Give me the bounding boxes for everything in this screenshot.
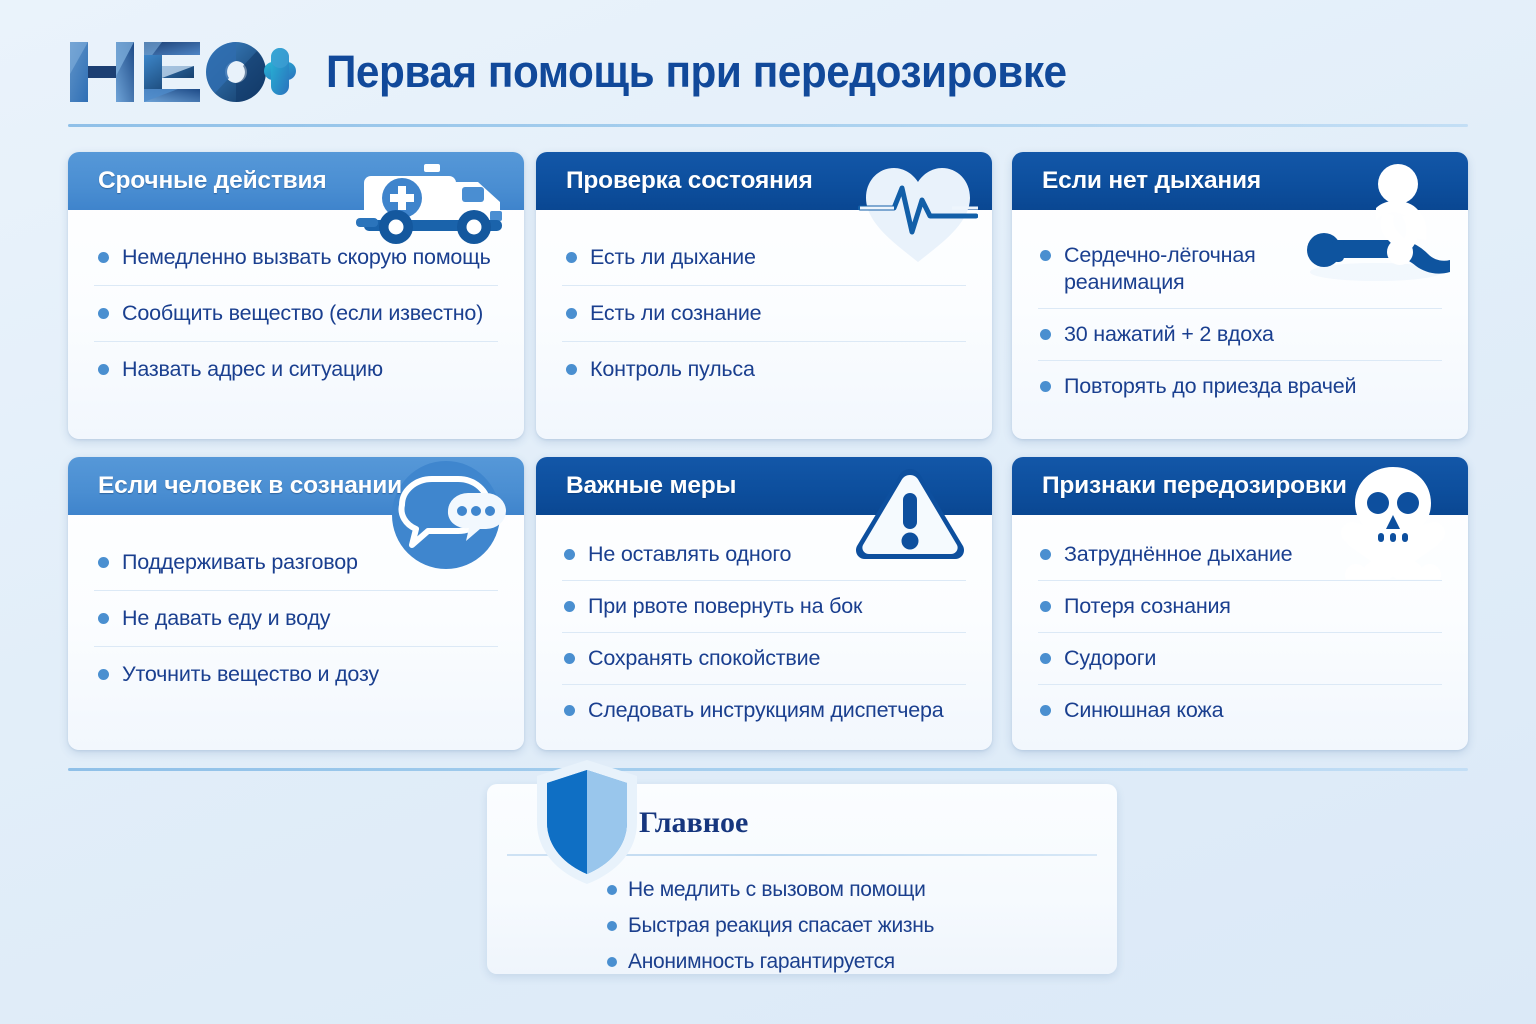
neo-plus-logo <box>68 36 296 108</box>
item-list: Есть ли дыхание Есть ли сознание Контрол… <box>562 230 966 397</box>
bullet-dot <box>564 705 575 716</box>
summary-item-list: Не медлить с вызовом помощи Быстрая реак… <box>607 872 934 980</box>
list-item[interactable]: Контроль пульса <box>562 342 966 397</box>
list-item[interactable]: Сердечно-лёгочная реанимация <box>1038 230 1442 309</box>
card-title: Важные меры <box>536 472 736 500</box>
bullet-dot <box>564 653 575 664</box>
card-header: Важные меры <box>536 457 992 515</box>
list-item[interactable]: Не давать еду и воду <box>94 591 498 647</box>
page-title: Первая помощь при передозировке <box>326 46 1067 98</box>
card-header: Проверка состояния <box>536 152 992 210</box>
bullet-dot <box>1040 601 1051 612</box>
list-item[interactable]: Повторять до приезда врачей <box>1038 361 1442 412</box>
card-title: Если человек в сознании <box>68 472 402 500</box>
item-list: Затруднённое дыхание Потеря сознания Суд… <box>1038 529 1442 736</box>
card-title: Проверка состояния <box>536 167 813 195</box>
bullet-dot <box>607 957 617 967</box>
list-item[interactable]: Назвать адрес и ситуацию <box>94 342 498 397</box>
card-conscious-person: Если человек в сознании Поддерживать раз… <box>68 457 524 750</box>
card-overdose-signs: Признаки передозировки Затруднён <box>1012 457 1468 750</box>
list-item[interactable]: Немедленно вызвать скорую помощь <box>94 230 498 286</box>
list-item[interactable]: Не медлить с вызовом помощи <box>607 872 934 908</box>
card-condition-check: Проверка состояния Есть ли дыхание Есть … <box>536 152 992 439</box>
card-header: Если нет дыхания <box>1012 152 1468 210</box>
card-urgent-actions: Срочные действия Немедленно вызвать <box>68 152 524 439</box>
card-title: Если нет дыхания <box>1012 167 1261 195</box>
summary-divider <box>68 768 1468 771</box>
bullet-dot <box>1040 250 1051 261</box>
bullet-dot <box>1040 329 1051 340</box>
card-body: Сердечно-лёгочная реанимация 30 нажатий … <box>1012 210 1468 438</box>
bullet-dot <box>1040 705 1051 716</box>
item-list: Поддерживать разговор Не давать еду и во… <box>94 535 498 702</box>
bullet-dot <box>607 885 617 895</box>
shield-icon <box>533 758 641 886</box>
list-item[interactable]: Анонимность гарантируется <box>607 944 934 980</box>
page-header: Первая помощь при передозировке <box>68 26 1468 118</box>
list-item[interactable]: Потеря сознания <box>1038 581 1442 633</box>
card-title: Признаки передозировки <box>1012 472 1347 500</box>
item-list: Не оставлять одного При рвоте повернуть … <box>562 529 966 736</box>
bullet-dot <box>564 549 575 560</box>
bullet-dot <box>98 557 109 568</box>
list-item[interactable]: Поддерживать разговор <box>94 535 498 591</box>
bullet-dot <box>1040 381 1051 392</box>
bullet-dot <box>1040 549 1051 560</box>
list-item[interactable]: Не оставлять одного <box>562 529 966 581</box>
list-item[interactable]: Следовать инструкциям диспетчера <box>562 685 966 736</box>
bullet-dot <box>566 364 577 375</box>
bullet-dot <box>98 613 109 624</box>
item-list: Сердечно-лёгочная реанимация 30 нажатий … <box>1038 230 1442 412</box>
summary-panel: Главное Не медлить с вызовом помощи Быст… <box>487 784 1117 974</box>
list-item[interactable]: Затруднённое дыхание <box>1038 529 1442 581</box>
bullet-dot <box>98 669 109 680</box>
bullet-dot <box>98 308 109 319</box>
list-item[interactable]: Есть ли дыхание <box>562 230 966 286</box>
item-list: Немедленно вызвать скорую помощь Сообщит… <box>94 230 498 397</box>
list-item[interactable]: Есть ли сознание <box>562 286 966 342</box>
card-body: Поддерживать разговор Не давать еду и во… <box>68 515 524 728</box>
card-body: Не оставлять одного При рвоте повернуть … <box>536 515 992 750</box>
list-item[interactable]: Сообщить вещество (если известно) <box>94 286 498 342</box>
list-item[interactable]: Быстрая реакция спасает жизнь <box>607 908 934 944</box>
card-body: Есть ли дыхание Есть ли сознание Контрол… <box>536 210 992 423</box>
card-title: Срочные действия <box>68 167 326 195</box>
bullet-dot <box>564 601 575 612</box>
card-header: Признаки передозировки <box>1012 457 1468 515</box>
card-important-measures: Важные меры Не оставлять одного При рвот… <box>536 457 992 750</box>
card-header: Срочные действия <box>68 152 524 210</box>
bullet-dot <box>566 252 577 263</box>
bullet-dot <box>607 921 617 931</box>
list-item[interactable]: При рвоте повернуть на бок <box>562 581 966 633</box>
summary-title: Главное <box>639 806 748 840</box>
list-item[interactable]: Судороги <box>1038 633 1442 685</box>
header-divider <box>68 124 1468 127</box>
card-body: Немедленно вызвать скорую помощь Сообщит… <box>68 210 524 423</box>
card-no-breathing: Если нет дыхания Сердечно-лёгочная реани… <box>1012 152 1468 439</box>
list-item[interactable]: 30 нажатий + 2 вдоха <box>1038 309 1442 361</box>
list-item[interactable]: Синюшная кожа <box>1038 685 1442 736</box>
bullet-dot <box>1040 653 1051 664</box>
card-header: Если человек в сознании <box>68 457 524 515</box>
bullet-dot <box>98 364 109 375</box>
card-body: Затруднённое дыхание Потеря сознания Суд… <box>1012 515 1468 750</box>
bullet-dot <box>98 252 109 263</box>
bullet-dot <box>566 308 577 319</box>
list-item[interactable]: Уточнить вещество и дозу <box>94 647 498 702</box>
list-item[interactable]: Сохранять спокойствие <box>562 633 966 685</box>
